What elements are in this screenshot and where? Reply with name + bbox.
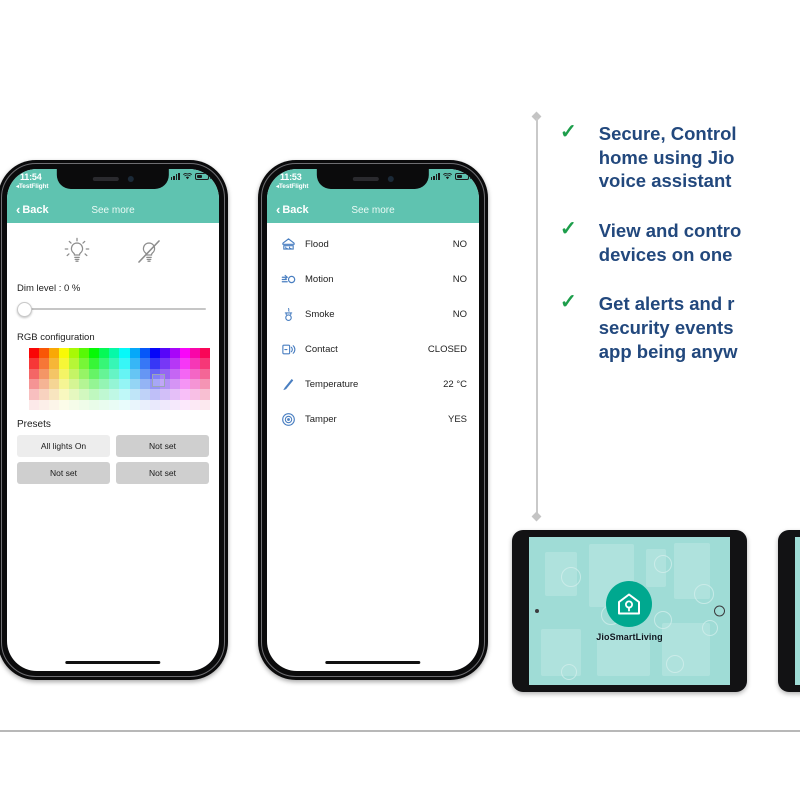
check-icon: ✓ xyxy=(560,292,577,363)
color-swatch[interactable] xyxy=(180,358,190,368)
color-swatch[interactable] xyxy=(109,379,119,389)
color-swatch[interactable] xyxy=(29,348,39,358)
phone-right-screen: 11:53 ◂TestFlight ‹ Back See more xyxy=(267,169,479,671)
color-swatch[interactable] xyxy=(140,369,150,379)
status-time: 11:53 xyxy=(280,172,302,182)
color-swatch[interactable] xyxy=(180,348,190,358)
sensor-value: NO xyxy=(453,274,467,285)
color-swatch[interactable] xyxy=(180,369,190,379)
color-swatch[interactable] xyxy=(130,379,140,389)
color-swatch[interactable] xyxy=(99,348,109,358)
tablet-splash-screen-clipped xyxy=(795,537,800,685)
page-title: g App xyxy=(0,24,288,63)
front-camera-icon xyxy=(535,609,539,613)
color-swatch[interactable] xyxy=(39,389,49,399)
background-pattern xyxy=(795,537,800,685)
connector-diamond-bottom xyxy=(532,512,542,522)
color-swatch[interactable] xyxy=(160,389,170,399)
color-swatch[interactable] xyxy=(69,379,79,389)
see-more-title: See more xyxy=(267,205,479,216)
motion-icon xyxy=(277,272,299,287)
status-app-name: TestFlight xyxy=(19,183,49,190)
color-swatch[interactable] xyxy=(200,400,210,410)
color-swatch[interactable] xyxy=(170,348,180,358)
color-swatch[interactable] xyxy=(59,348,69,358)
sensor-status-list: FloodNOMotionNOSmokeNOContactCLOSEDTempe… xyxy=(267,223,479,437)
phone-left-screen: 11:54 ◂TestFlight ‹ Back See more xyxy=(7,169,219,671)
color-swatch[interactable] xyxy=(99,389,109,399)
feature-bullet: ✓Get alerts and r security events app be… xyxy=(560,292,800,363)
color-swatch[interactable] xyxy=(170,369,180,379)
contact-icon xyxy=(277,342,299,357)
color-swatch[interactable] xyxy=(140,400,150,410)
feature-bullet-text: View and contro devices on one xyxy=(599,219,800,266)
home-bulb-icon xyxy=(606,581,652,627)
color-swatch[interactable] xyxy=(119,348,129,358)
color-swatch[interactable] xyxy=(119,358,129,368)
color-swatch[interactable] xyxy=(99,400,109,410)
color-swatch[interactable] xyxy=(49,400,59,410)
feature-bullet-text: Get alerts and r security events app bei… xyxy=(599,292,800,363)
color-swatch[interactable] xyxy=(39,379,49,389)
color-swatch[interactable] xyxy=(69,400,79,410)
color-swatch[interactable] xyxy=(200,379,210,389)
sensor-row[interactable]: ContactCLOSED xyxy=(267,332,479,367)
status-app-name: TestFlight xyxy=(279,183,309,190)
color-swatch[interactable] xyxy=(190,358,200,368)
sensor-name: Contact xyxy=(305,344,428,355)
color-swatch[interactable] xyxy=(109,369,119,379)
camera-icon xyxy=(387,176,393,182)
color-swatch[interactable] xyxy=(29,389,39,399)
status-back-to-app[interactable]: ◂TestFlight xyxy=(16,183,49,190)
sensor-value: YES xyxy=(448,414,467,425)
sensor-row[interactable]: MotionNO xyxy=(267,262,479,297)
color-swatch[interactable] xyxy=(99,379,109,389)
color-swatch[interactable] xyxy=(130,389,140,399)
color-swatch[interactable] xyxy=(170,389,180,399)
connector-stem xyxy=(536,118,538,518)
see-more-title: See more xyxy=(7,205,219,216)
color-swatch[interactable] xyxy=(190,379,200,389)
rgb-configuration-label: RGB configuration xyxy=(17,332,209,343)
sensor-row[interactable]: TamperYES xyxy=(267,402,479,437)
phone-mockup-right: 11:53 ◂TestFlight ‹ Back See more xyxy=(258,160,488,680)
color-swatch[interactable] xyxy=(79,379,89,389)
color-swatch[interactable] xyxy=(49,358,59,368)
battery-icon xyxy=(455,173,469,180)
color-swatch[interactable] xyxy=(109,400,119,410)
bulb-on-icon[interactable] xyxy=(60,235,94,269)
color-swatch[interactable] xyxy=(29,369,39,379)
color-swatch[interactable] xyxy=(140,348,150,358)
light-control-panel: Dim level : 0 % RGB configuration Preset… xyxy=(7,223,219,484)
feature-bullet: ✓Secure, Control home using Jio voice as… xyxy=(560,122,800,193)
color-swatch[interactable] xyxy=(69,348,79,358)
color-swatch[interactable] xyxy=(29,379,39,389)
sensor-value: CLOSED xyxy=(428,344,467,355)
dim-level-label: Dim level : 0 % xyxy=(17,283,209,294)
color-swatch[interactable] xyxy=(89,348,99,358)
bulb-toggle-row xyxy=(17,223,209,279)
status-back-to-app[interactable]: ◂TestFlight xyxy=(276,183,309,190)
slider-knob[interactable] xyxy=(17,302,32,317)
check-icon: ✓ xyxy=(560,219,577,266)
rgb-color-grid[interactable] xyxy=(29,348,210,410)
color-swatch[interactable] xyxy=(150,389,160,399)
color-swatch[interactable] xyxy=(59,369,69,379)
color-swatch[interactable] xyxy=(109,358,119,368)
sensor-name: Flood xyxy=(305,239,453,250)
tablet-mockup-primary: JioSmartLiving xyxy=(512,530,747,692)
color-swatch[interactable] xyxy=(89,369,99,379)
color-swatch[interactable] xyxy=(119,400,129,410)
color-swatch[interactable] xyxy=(59,389,69,399)
color-swatch[interactable] xyxy=(180,400,190,410)
color-swatch[interactable] xyxy=(119,379,129,389)
nav-bar-right: ‹ Back See more xyxy=(267,197,479,223)
dim-level-slider[interactable] xyxy=(17,300,209,318)
home-indicator xyxy=(65,661,160,664)
speaker-icon xyxy=(92,177,118,181)
color-swatch[interactable] xyxy=(160,348,170,358)
color-swatch[interactable] xyxy=(109,348,119,358)
color-swatch[interactable] xyxy=(140,358,150,368)
color-swatch[interactable] xyxy=(170,379,180,389)
color-swatch[interactable] xyxy=(119,369,129,379)
tablet-splash-screen: JioSmartLiving xyxy=(529,537,730,685)
color-swatch[interactable] xyxy=(160,358,170,368)
camera-icon xyxy=(127,176,133,182)
color-swatch[interactable] xyxy=(29,358,39,368)
feature-bullet: ✓View and contro devices on one xyxy=(560,219,800,266)
preset-button[interactable]: Not set xyxy=(116,435,209,457)
sensor-name: Temperature xyxy=(305,379,443,390)
color-swatch[interactable] xyxy=(69,369,79,379)
color-swatch[interactable] xyxy=(99,369,109,379)
bottom-divider xyxy=(0,730,800,732)
color-swatch[interactable] xyxy=(29,400,39,410)
color-swatch[interactable] xyxy=(79,358,89,368)
color-swatch[interactable] xyxy=(49,369,59,379)
feature-bullet-text: Secure, Control home using Jio voice ass… xyxy=(599,122,800,193)
tablet-mockup-secondary-clipped xyxy=(778,530,800,692)
color-swatch[interactable] xyxy=(130,400,140,410)
color-swatch[interactable] xyxy=(89,400,99,410)
notch xyxy=(57,169,169,189)
app-name-label: JioSmartLiving xyxy=(596,632,662,642)
color-swatch[interactable] xyxy=(190,348,200,358)
color-swatch[interactable] xyxy=(180,379,190,389)
color-swatch[interactable] xyxy=(150,358,160,368)
color-swatch[interactable] xyxy=(200,369,210,379)
color-swatch[interactable] xyxy=(140,379,150,389)
color-swatch[interactable] xyxy=(69,358,79,368)
color-swatch[interactable] xyxy=(49,348,59,358)
color-swatch[interactable] xyxy=(160,400,170,410)
color-swatch[interactable] xyxy=(190,400,200,410)
color-selection-box xyxy=(152,374,165,387)
status-icons xyxy=(171,173,209,180)
home-button[interactable] xyxy=(714,606,725,617)
flood-icon xyxy=(277,237,299,252)
color-swatch[interactable] xyxy=(130,369,140,379)
color-swatch[interactable] xyxy=(150,348,160,358)
sensor-row[interactable]: FloodNO xyxy=(267,227,479,262)
color-swatch[interactable] xyxy=(190,369,200,379)
notch xyxy=(317,169,429,189)
sensor-value: 22 °C xyxy=(443,379,467,390)
color-swatch[interactable] xyxy=(59,379,69,389)
color-swatch[interactable] xyxy=(79,369,89,379)
wifi-icon xyxy=(183,173,192,180)
sensor-row[interactable]: SmokeNO xyxy=(267,297,479,332)
check-icon: ✓ xyxy=(560,122,577,193)
slide-canvas: g App 11:54 ◂TestFlight xyxy=(0,0,800,800)
status-time: 11:54 xyxy=(20,172,42,182)
wifi-icon xyxy=(443,173,452,180)
sensor-name: Tamper xyxy=(305,414,448,425)
color-swatch[interactable] xyxy=(130,348,140,358)
color-swatch[interactable] xyxy=(99,358,109,368)
color-swatch[interactable] xyxy=(150,400,160,410)
phone-mockup-left: 11:54 ◂TestFlight ‹ Back See more xyxy=(0,160,228,680)
color-swatch[interactable] xyxy=(89,358,99,368)
color-swatch[interactable] xyxy=(79,348,89,358)
color-swatch[interactable] xyxy=(200,358,210,368)
bulb-off-icon[interactable] xyxy=(132,235,166,269)
color-swatch[interactable] xyxy=(79,400,89,410)
color-swatch[interactable] xyxy=(190,389,200,399)
color-swatch[interactable] xyxy=(89,379,99,389)
tamper-icon xyxy=(277,412,299,427)
feature-bullet-list: ✓Secure, Control home using Jio voice as… xyxy=(560,122,800,389)
color-swatch[interactable] xyxy=(89,389,99,399)
color-swatch[interactable] xyxy=(39,348,49,358)
speaker-icon xyxy=(352,177,378,181)
sensor-row[interactable]: Temperature22 °C xyxy=(267,367,479,402)
color-swatch[interactable] xyxy=(49,389,59,399)
color-swatch[interactable] xyxy=(200,389,210,399)
color-swatch[interactable] xyxy=(109,389,119,399)
preset-button[interactable]: Not set xyxy=(116,462,209,484)
presets-label: Presets xyxy=(17,419,209,430)
signal-icon xyxy=(431,173,440,180)
sensor-value: NO xyxy=(453,239,467,250)
presets-grid: All lights OnNot setNot setNot set xyxy=(17,435,209,484)
status-icons xyxy=(431,173,469,180)
color-swatch[interactable] xyxy=(69,389,79,399)
color-swatch[interactable] xyxy=(39,369,49,379)
sensor-name: Motion xyxy=(305,274,453,285)
color-swatch[interactable] xyxy=(119,389,129,399)
preset-button[interactable]: Not set xyxy=(17,462,110,484)
signal-icon xyxy=(171,173,180,180)
color-swatch[interactable] xyxy=(79,389,89,399)
battery-icon xyxy=(195,173,209,180)
color-swatch[interactable] xyxy=(170,358,180,368)
preset-button[interactable]: All lights On xyxy=(17,435,110,457)
color-swatch[interactable] xyxy=(39,358,49,368)
temperature-icon xyxy=(277,377,299,392)
color-swatch[interactable] xyxy=(140,389,150,399)
color-swatch[interactable] xyxy=(180,389,190,399)
slider-track xyxy=(20,308,206,310)
color-swatch[interactable] xyxy=(170,400,180,410)
color-swatch[interactable] xyxy=(49,379,59,389)
color-swatch[interactable] xyxy=(130,358,140,368)
sensor-name: Smoke xyxy=(305,309,453,320)
connector-line xyxy=(534,113,539,523)
color-swatch[interactable] xyxy=(200,348,210,358)
app-logo-group: JioSmartLiving xyxy=(596,581,662,642)
color-swatch[interactable] xyxy=(59,358,69,368)
home-indicator xyxy=(325,661,420,664)
sensor-value: NO xyxy=(453,309,467,320)
color-swatch[interactable] xyxy=(39,400,49,410)
smoke-icon xyxy=(277,307,299,322)
nav-bar-left: ‹ Back See more xyxy=(7,197,219,223)
color-swatch[interactable] xyxy=(59,400,69,410)
